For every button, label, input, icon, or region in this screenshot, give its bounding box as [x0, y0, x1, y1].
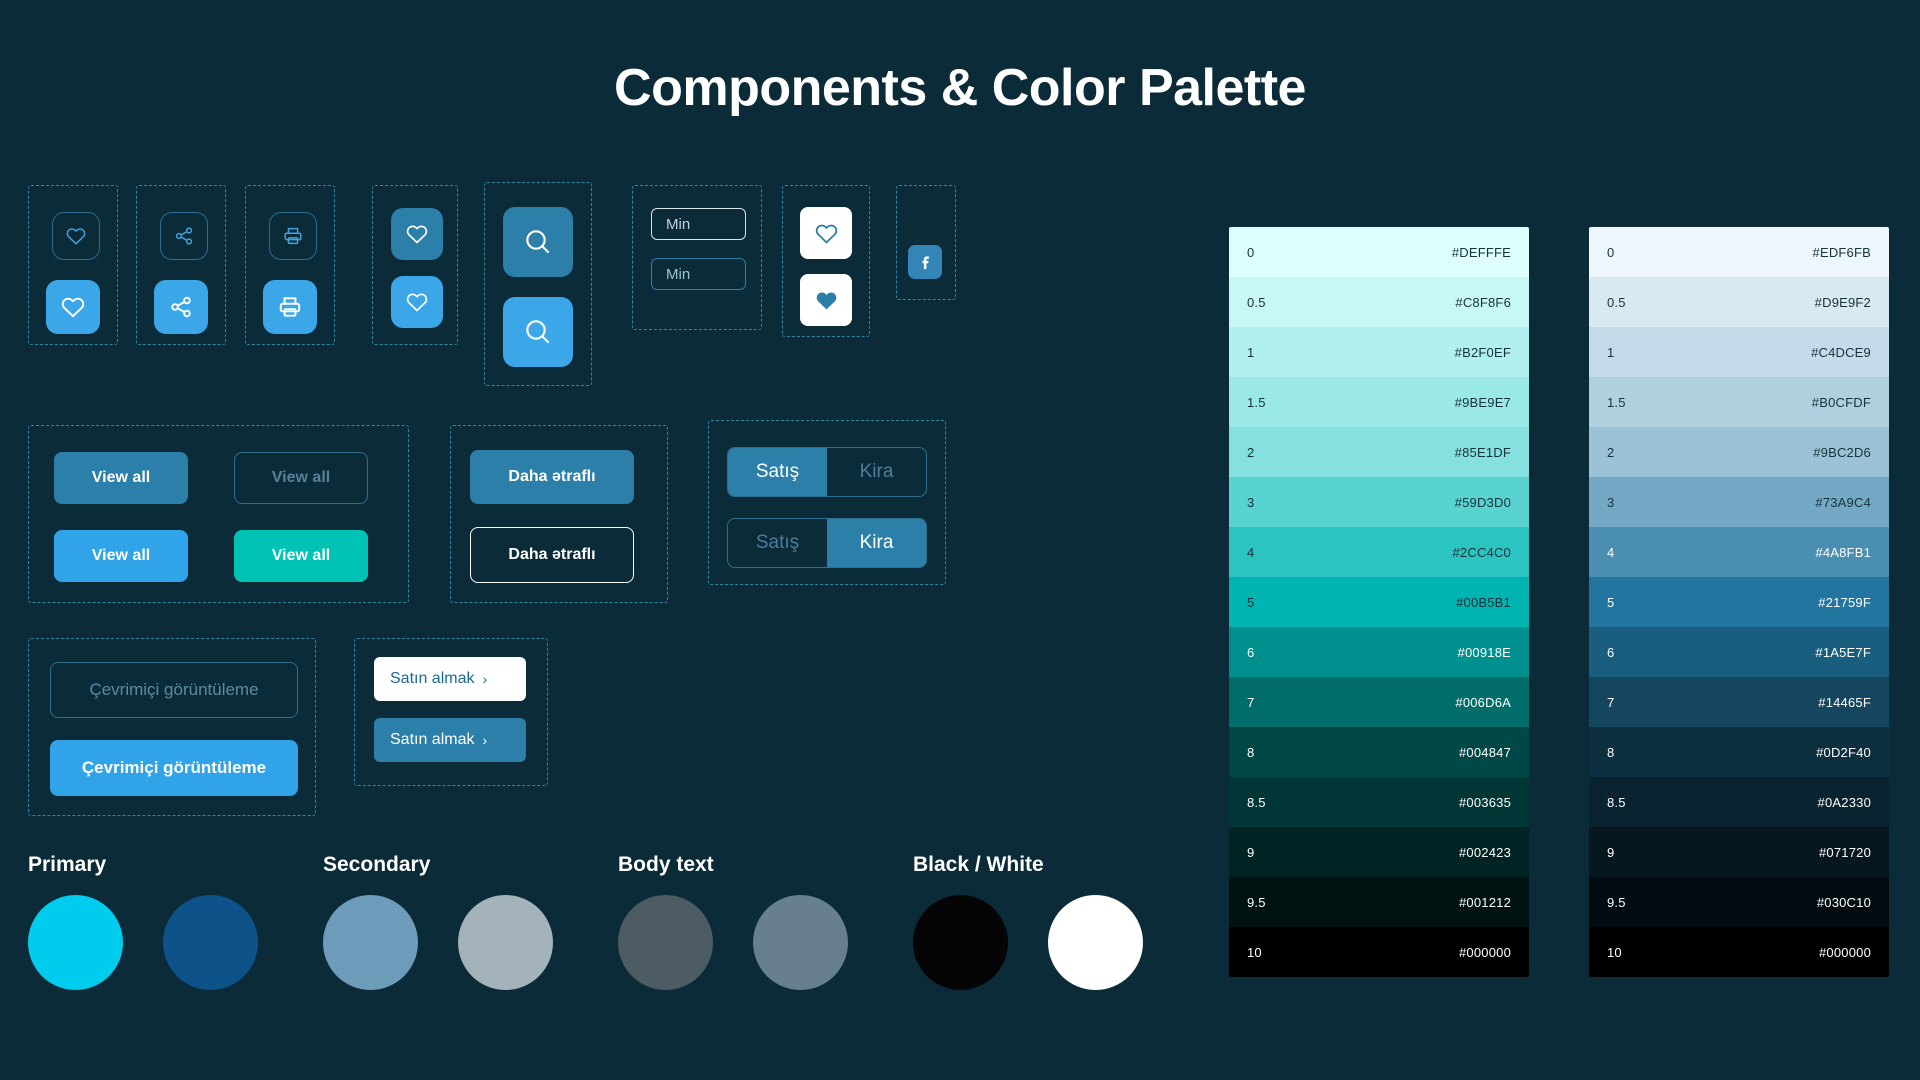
palette-row: 0#DEFFFE [1229, 227, 1529, 277]
palette-step: 1.5 [1247, 395, 1266, 410]
palette-row: 2#9BC2D6 [1589, 427, 1889, 477]
palette-step: 6 [1607, 645, 1614, 660]
search-icon [522, 226, 554, 258]
swatch-group-black-white: Black / White [913, 853, 1143, 990]
palette-step: 2 [1247, 445, 1254, 460]
view-all-button-outline[interactable]: View all [234, 452, 368, 504]
facebook-button[interactable] [908, 245, 942, 279]
palette-step: 0.5 [1247, 295, 1266, 310]
favorite-button-mid[interactable] [391, 208, 443, 260]
palette-step: 5 [1607, 595, 1614, 610]
detail-button-steel[interactable]: Daha ətraflı [470, 450, 634, 504]
palette-step: 9 [1247, 845, 1254, 860]
palette-row: 9#071720 [1589, 827, 1889, 877]
print-button-outline[interactable] [269, 212, 317, 260]
palette-step: 7 [1607, 695, 1614, 710]
palette-row: 1.5#B0CFDF [1589, 377, 1889, 427]
view-all-button-blue[interactable]: View all [54, 530, 188, 582]
palette-hex: #4A8FB1 [1815, 545, 1871, 560]
palette-step: 4 [1607, 545, 1614, 560]
favorite-button-light[interactable] [391, 276, 443, 328]
heart-icon [65, 225, 87, 247]
palette-row: 10#000000 [1589, 927, 1889, 977]
swatch-group-label: Black / White [913, 853, 1143, 877]
favorite-button-outline[interactable] [52, 212, 100, 260]
palette-row: 0#EDF6FB [1589, 227, 1889, 277]
palette-hex: #00918E [1458, 645, 1511, 660]
palette-hex: #004847 [1459, 745, 1511, 760]
search-icon [522, 316, 554, 348]
online-view-button-outline[interactable]: Çevrimiçi görüntüleme [50, 662, 298, 718]
palette-hex: #0D2F40 [1816, 745, 1871, 760]
palette-hex: #EDF6FB [1813, 245, 1871, 260]
chevron-right-icon: › [482, 672, 487, 686]
palette-hex: #C8F8F6 [1455, 295, 1511, 310]
swatch-group-label: Secondary [323, 853, 553, 877]
palette-hex: #B0CFDF [1812, 395, 1871, 410]
palette-row: 8.5#003635 [1229, 777, 1529, 827]
palette-hex: #002423 [1459, 845, 1511, 860]
palette-row: 4#2CC4C0 [1229, 527, 1529, 577]
palette-hex: #000000 [1819, 945, 1871, 960]
icon-group-facebook [896, 185, 956, 300]
palette-row: 9#002423 [1229, 827, 1529, 877]
palette-hex: #9BE9E7 [1455, 395, 1511, 410]
palette-row: 1#C4DCE9 [1589, 327, 1889, 377]
color-swatch [913, 895, 1008, 990]
printer-icon [282, 225, 304, 247]
palette-step: 9.5 [1607, 895, 1626, 910]
color-swatch [753, 895, 848, 990]
favorite-button-white-outline[interactable] [800, 207, 852, 259]
palette-step: 9.5 [1247, 895, 1266, 910]
palette-hex: #000000 [1459, 945, 1511, 960]
palette-row: 5#21759F [1589, 577, 1889, 627]
color-swatch [28, 895, 123, 990]
chevron-right-icon: › [482, 733, 487, 747]
palette-step: 0 [1247, 245, 1254, 260]
palette-hex: #030C10 [1817, 895, 1871, 910]
heart-icon [814, 221, 839, 246]
palette-step: 8 [1607, 745, 1614, 760]
palette-hex: #DEFFFE [1452, 245, 1511, 260]
detail-button-outline[interactable]: Daha ətraflı [470, 527, 634, 583]
palette-row: 3#59D3D0 [1229, 477, 1529, 527]
palette-step: 3 [1247, 495, 1254, 510]
heart-icon [814, 288, 839, 313]
favorite-button-filled[interactable] [46, 280, 100, 334]
palette-hex: #1A5E7F [1815, 645, 1871, 660]
view-all-button-teal[interactable]: View all [234, 530, 368, 582]
palette-row: 8#004847 [1229, 727, 1529, 777]
toggle-option-sale[interactable]: Satış [728, 519, 827, 567]
palette-hex: #0A2330 [1818, 795, 1871, 810]
palette-step: 1 [1607, 345, 1614, 360]
palette-step: 1.5 [1607, 395, 1626, 410]
palette-row: 1#B2F0EF [1229, 327, 1529, 377]
palette-row: 2#85E1DF [1229, 427, 1529, 477]
palette-hex: #14465F [1818, 695, 1871, 710]
palette-step: 10 [1607, 945, 1622, 960]
heart-icon [405, 222, 429, 246]
palette-row: 3#73A9C4 [1589, 477, 1889, 527]
share-icon [173, 225, 195, 247]
palette-table-teal: 0#DEFFFE0.5#C8F8F61#B2F0EF1.5#9BE9E72#85… [1229, 227, 1529, 977]
palette-row: 1.5#9BE9E7 [1229, 377, 1529, 427]
share-icon [168, 294, 194, 320]
palette-hex: #59D3D0 [1455, 495, 1511, 510]
palette-step: 1 [1247, 345, 1254, 360]
page-title: Components & Color Palette [0, 58, 1920, 118]
printer-icon [277, 294, 303, 320]
swatch-group-body-text: Body text [618, 853, 848, 990]
min-input-secondary[interactable]: Min [651, 258, 746, 290]
purchase-label: Satın almak [390, 731, 474, 749]
palette-row: 8#0D2F40 [1589, 727, 1889, 777]
toggle-sale-active[interactable]: Satış Kira [727, 447, 927, 497]
palette-row: 7#14465F [1589, 677, 1889, 727]
palette-step: 3 [1607, 495, 1614, 510]
palette-step: 8.5 [1607, 795, 1626, 810]
share-button-outline[interactable] [160, 212, 208, 260]
share-button-filled[interactable] [154, 280, 208, 334]
palette-step: 0 [1607, 245, 1614, 260]
palette-step: 5 [1247, 595, 1254, 610]
palette-hex: #006D6A [1455, 695, 1511, 710]
palette-step: 2 [1607, 445, 1614, 460]
palette-row: 10#000000 [1229, 927, 1529, 977]
palette-row: 6#00918E [1229, 627, 1529, 677]
palette-hex: #00B5B1 [1456, 595, 1511, 610]
min-input-primary[interactable]: Min [651, 208, 746, 240]
palette-hex: #B2F0EF [1455, 345, 1511, 360]
palette-step: 6 [1247, 645, 1254, 660]
palette-hex: #003635 [1459, 795, 1511, 810]
palette-page: Components & Color Palette [0, 0, 1920, 1080]
palette-row: 7#006D6A [1229, 677, 1529, 727]
palette-hex: #D9E9F2 [1815, 295, 1871, 310]
palette-hex: #071720 [1819, 845, 1871, 860]
palette-hex: #9BC2D6 [1813, 445, 1871, 460]
heart-icon [405, 290, 429, 314]
facebook-icon [915, 252, 935, 272]
palette-hex: #001212 [1459, 895, 1511, 910]
purchase-label: Satın almak [390, 670, 474, 688]
swatch-group-primary: Primary [28, 853, 258, 990]
purchase-button-steel[interactable]: Satın almak › [374, 718, 526, 762]
palette-step: 7 [1247, 695, 1254, 710]
palette-row: 9.5#030C10 [1589, 877, 1889, 927]
purchase-button-white[interactable]: Satın almak › [374, 657, 526, 701]
color-swatch [323, 895, 418, 990]
color-swatch [163, 895, 258, 990]
swatch-group-label: Primary [28, 853, 258, 877]
palette-table-blue: 0#EDF6FB0.5#D9E9F21#C4DCE91.5#B0CFDF2#9B… [1589, 227, 1889, 977]
color-swatch [618, 895, 713, 990]
swatch-group-label: Body text [618, 853, 848, 877]
toggle-rent-active[interactable]: Satış Kira [727, 518, 927, 568]
heart-icon [60, 294, 86, 320]
palette-hex: #C4DCE9 [1811, 345, 1871, 360]
palette-row: 6#1A5E7F [1589, 627, 1889, 677]
color-swatch [458, 895, 553, 990]
online-view-button-filled[interactable]: Çevrimiçi görüntüleme [50, 740, 298, 796]
toggle-option-sale[interactable]: Satış [728, 448, 827, 496]
view-all-button-steel[interactable]: View all [54, 452, 188, 504]
search-button-light[interactable] [503, 297, 573, 367]
palette-row: 0.5#C8F8F6 [1229, 277, 1529, 327]
palette-step: 8.5 [1247, 795, 1266, 810]
swatch-group-secondary: Secondary [323, 853, 553, 990]
palette-hex: #85E1DF [1455, 445, 1511, 460]
toggle-option-rent[interactable]: Kira [827, 519, 926, 567]
palette-hex: #73A9C4 [1815, 495, 1871, 510]
palette-step: 0.5 [1607, 295, 1626, 310]
palette-row: 8.5#0A2330 [1589, 777, 1889, 827]
palette-step: 4 [1247, 545, 1254, 560]
toggle-option-rent[interactable]: Kira [827, 448, 926, 496]
palette-step: 8 [1247, 745, 1254, 760]
palette-hex: #21759F [1818, 595, 1871, 610]
palette-row: 5#00B5B1 [1229, 577, 1529, 627]
palette-hex: #2CC4C0 [1453, 545, 1512, 560]
color-swatch [1048, 895, 1143, 990]
palette-step: 9 [1607, 845, 1614, 860]
palette-row: 0.5#D9E9F2 [1589, 277, 1889, 327]
search-button-mid[interactable] [503, 207, 573, 277]
favorite-button-white-solid[interactable] [800, 274, 852, 326]
print-button-filled[interactable] [263, 280, 317, 334]
palette-row: 9.5#001212 [1229, 877, 1529, 927]
palette-row: 4#4A8FB1 [1589, 527, 1889, 577]
palette-step: 10 [1247, 945, 1262, 960]
